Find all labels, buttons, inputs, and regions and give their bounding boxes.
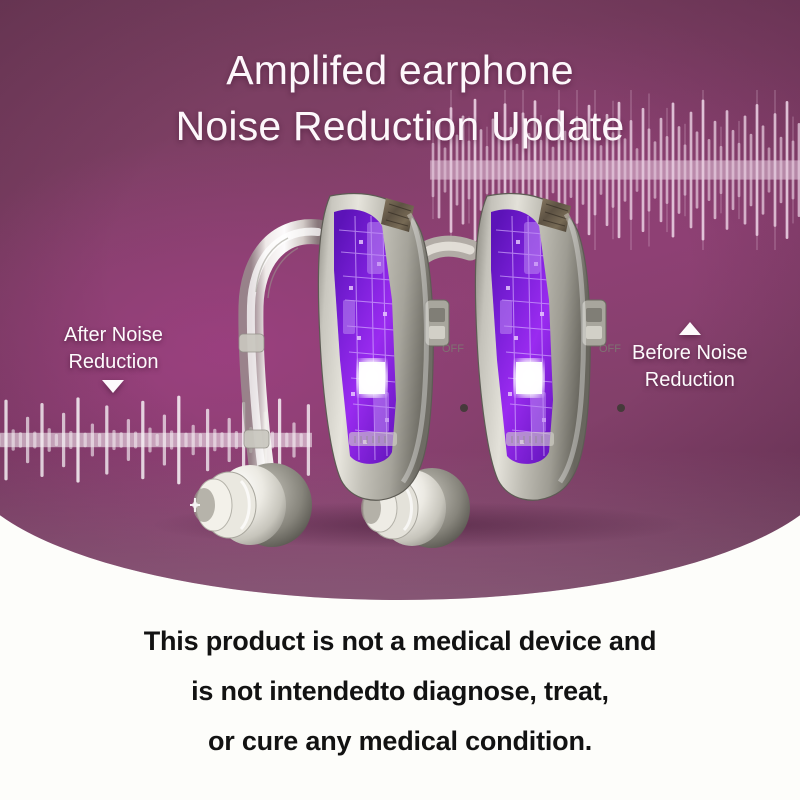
product-drop-shadow bbox=[154, 502, 682, 548]
callout-after-line-1: After Noise bbox=[64, 322, 163, 349]
callout-after-line-2: Reduction bbox=[64, 349, 163, 376]
waveform-after-noise-reduction bbox=[0, 380, 312, 500]
callout-before-line-2: Reduction bbox=[632, 367, 748, 394]
page-title: Amplifed earphone Noise Reduction Update bbox=[0, 42, 800, 154]
disclaimer-line-2: is not intendedto diagnose, treat, bbox=[0, 666, 800, 716]
headline-line-2: Noise Reduction Update bbox=[0, 98, 800, 154]
triangle-up-icon bbox=[679, 322, 701, 335]
disclaimer-line-1: This product is not a medical device and bbox=[0, 616, 800, 666]
callout-before-line-1: Before Noise bbox=[632, 340, 748, 367]
medical-disclaimer: This product is not a medical device and… bbox=[0, 616, 800, 766]
callout-after-noise-reduction: After Noise Reduction bbox=[64, 322, 163, 393]
callout-before-noise-reduction: Before Noise Reduction bbox=[632, 322, 748, 394]
triangle-down-icon bbox=[102, 380, 124, 393]
disclaimer-line-3: or cure any medical condition. bbox=[0, 716, 800, 766]
product-advertisement: Amplifed earphone Noise Reduction Update… bbox=[0, 0, 800, 800]
headline-line-1: Amplifed earphone bbox=[0, 42, 800, 98]
panel-sheen bbox=[0, 450, 800, 600]
